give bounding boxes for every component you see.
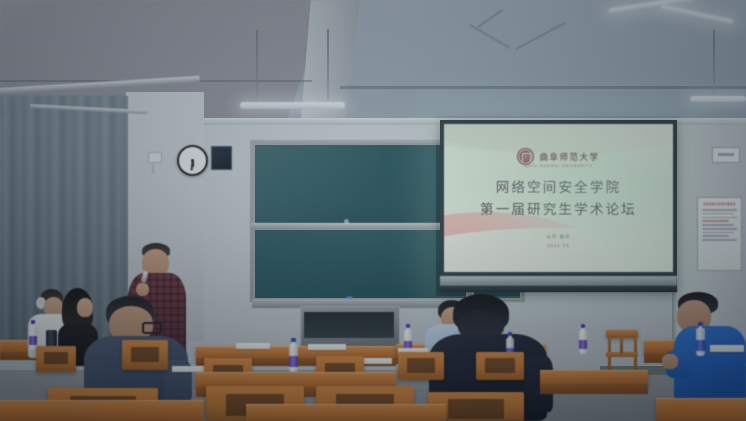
notice-line: [702, 235, 729, 237]
notice-line: [702, 228, 737, 230]
water-bottle[interactable]: [289, 340, 298, 372]
paper-sheet[interactable]: [360, 358, 392, 364]
bottle-label: [29, 336, 37, 345]
water-bottle[interactable]: [696, 324, 705, 356]
bottle-cap: [406, 324, 410, 328]
water-bottle[interactable]: [579, 326, 587, 354]
university-seal-icon: [517, 148, 534, 165]
university-name-en: QUFU NORMAL UNIVERSITY: [444, 164, 673, 168]
bottle-cap: [291, 338, 296, 342]
screen-roller: [440, 286, 677, 292]
slide-title-line1: 网络空间安全学院: [444, 176, 673, 196]
light-rod-1: [256, 30, 258, 102]
paper-sheet[interactable]: [710, 345, 744, 352]
paper-sheet[interactable]: [308, 344, 346, 350]
wall-vent-icon: [148, 152, 162, 163]
screen-bottom-bar: [440, 276, 677, 286]
slide-date: 2021.05: [444, 243, 673, 248]
wooden-desk[interactable]: [656, 398, 746, 421]
clock-center-dot: [191, 159, 194, 162]
light-rod-2: [327, 29, 329, 101]
ceiling-light-1: [240, 102, 345, 109]
ceiling-light-2: [690, 96, 746, 102]
desk-apron: [540, 384, 648, 394]
chair-backrest-gap: [407, 358, 435, 373]
wall-speaker-icon: [211, 146, 232, 170]
notice-line: [702, 224, 734, 226]
bottle-cap: [508, 332, 512, 336]
blackboard-panel-bottom[interactable]: [253, 228, 468, 300]
glasses-icon: [142, 322, 162, 334]
bottle-cap: [581, 324, 585, 328]
chalk-mark-1: [344, 219, 349, 224]
notice-line: [702, 209, 737, 211]
wooden-desk[interactable]: [246, 404, 446, 421]
notice-line: [702, 213, 734, 215]
presenter-hand: [136, 283, 149, 296]
chair-backrest-gap: [131, 347, 159, 362]
classroom-photo: 曲阜师范大学 QUFU NORMAL UNIVERSITY 网络空间安全学院 第…: [0, 0, 746, 421]
notice-line: [702, 232, 734, 234]
slide-title-line2: 第一届研究生学术论坛: [444, 198, 673, 218]
notice-line: [702, 220, 729, 222]
bottle-label: [696, 340, 705, 351]
ceiling-seam-right: [340, 86, 746, 89]
wooden-desk[interactable]: [0, 400, 204, 421]
light-rod-3: [713, 30, 715, 94]
chair-backrest-slat: [620, 336, 623, 353]
presentation-slide[interactable]: 曲阜师范大学 QUFU NORMAL UNIVERSITY 网络空间安全学院 第…: [444, 124, 673, 272]
bottle-cap: [698, 322, 703, 326]
wall-hook-icon: [152, 162, 154, 174]
university-logo: 曲阜师范大学: [444, 148, 673, 165]
chair-backrest-gap: [448, 399, 504, 419]
wall-notice[interactable]: 多媒体教室使用管理规定: [697, 197, 742, 271]
paper-sheet[interactable]: [236, 343, 270, 349]
slide-location: 山东·曲阜: [444, 234, 673, 240]
audience-hand: [662, 354, 678, 369]
chair-backrest-gap: [44, 352, 68, 364]
bottle-label: [579, 340, 587, 349]
notice-line: [702, 239, 737, 241]
bottle-label: [289, 356, 298, 367]
podium-recess: [304, 312, 394, 338]
blackboard-glare: [253, 143, 468, 225]
wall-notice-heading: 多媒体教室使用管理规定: [702, 202, 737, 206]
university-name: 曲阜师范大学: [539, 151, 599, 163]
notice-line: [702, 217, 737, 219]
wall-plate-icon: [712, 147, 740, 163]
chair-backrest-gap: [485, 358, 515, 373]
clock-icon: [177, 145, 208, 176]
bottle-cap: [31, 320, 35, 324]
